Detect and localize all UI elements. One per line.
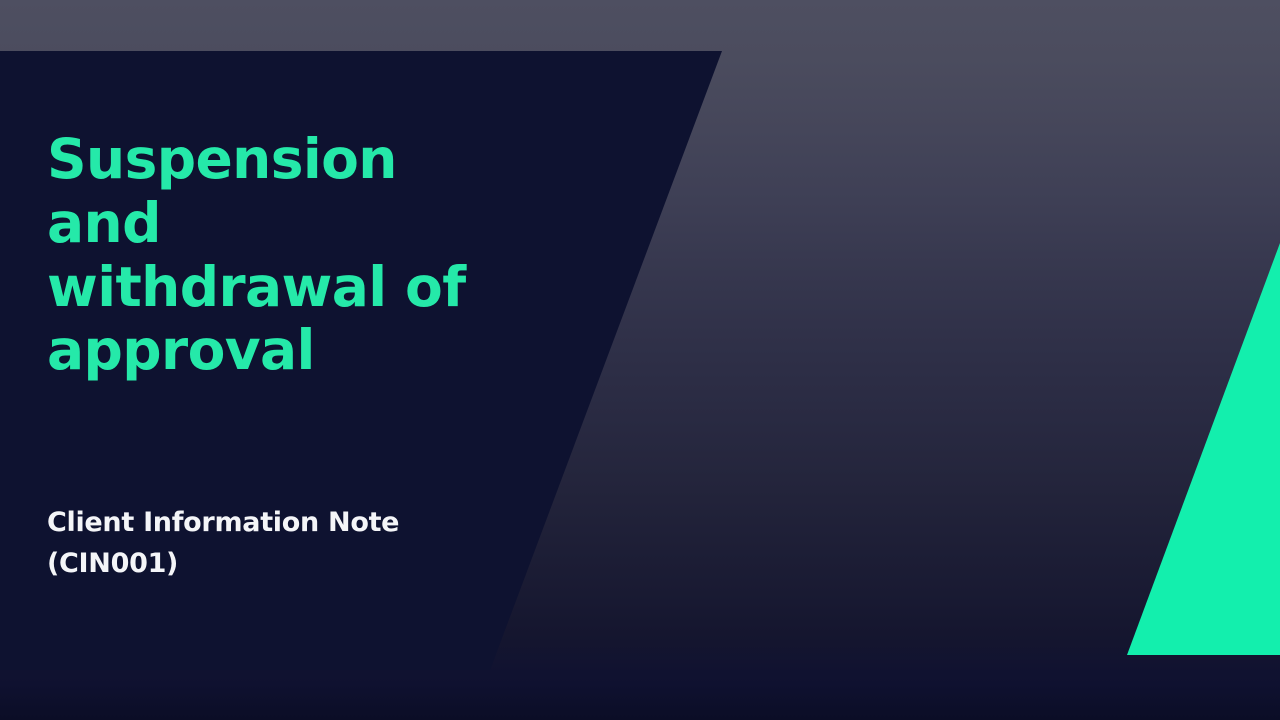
slide-subtitle: Client Information Note (CIN001) — [47, 503, 447, 584]
slide-text-block: Suspension and withdrawal of approval Cl… — [47, 0, 477, 720]
title-slide: Suspension and withdrawal of approval Cl… — [0, 0, 1280, 720]
teal-triangle-accent — [1127, 243, 1280, 655]
page-title: Suspension and withdrawal of approval — [47, 128, 477, 383]
